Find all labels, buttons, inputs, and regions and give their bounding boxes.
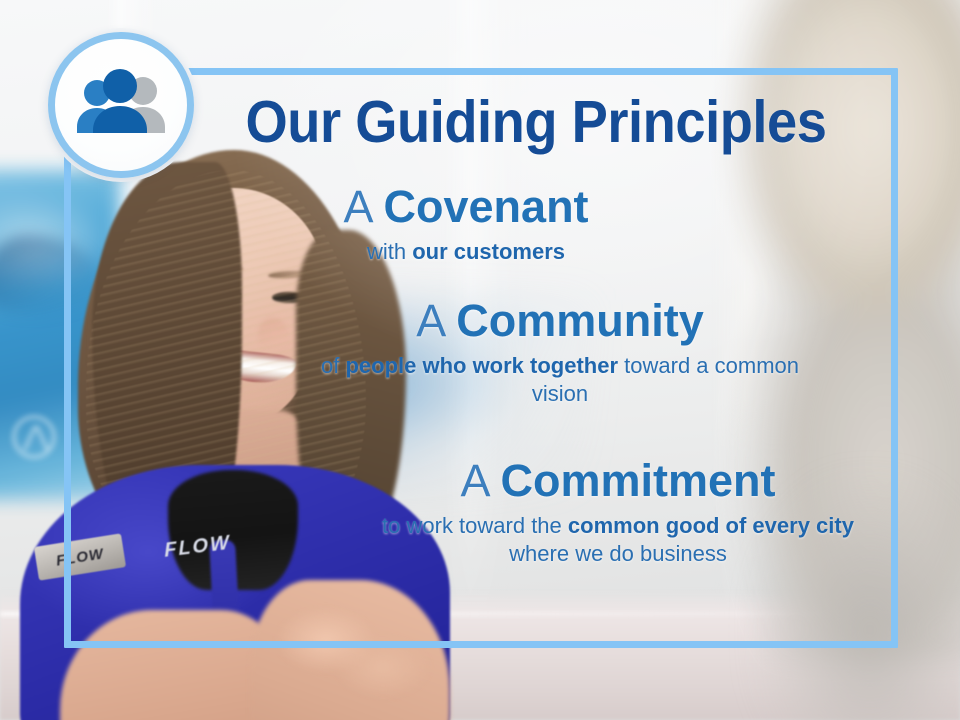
principle-commitment-sub-2: where we do business xyxy=(509,541,727,566)
page-title: Our Guiding Principles xyxy=(242,93,831,152)
principle-community-sub-1: people who work together xyxy=(345,353,618,378)
principle-covenant-title: A Covenant xyxy=(246,183,686,231)
principle-covenant-sub-1: our customers xyxy=(412,239,565,264)
principle-community: A Community of people who work together … xyxy=(300,297,820,409)
principle-covenant: A Covenant with our customers xyxy=(246,183,686,266)
principle-covenant-sub-0: with xyxy=(367,239,412,264)
principle-covenant-subtitle: with our customers xyxy=(246,238,686,267)
people-group-icon xyxy=(69,69,173,141)
principle-community-article: A xyxy=(416,295,444,346)
principle-community-subtitle: of people who work together toward a com… xyxy=(300,352,820,409)
principle-covenant-article: A xyxy=(343,181,371,232)
principle-commitment-title: A Commitment xyxy=(358,457,878,505)
people-group-badge xyxy=(48,32,194,178)
principle-covenant-keyword: Covenant xyxy=(384,181,589,232)
principle-commitment-keyword: Commitment xyxy=(501,455,776,506)
guiding-principles-poster: FLOW FLOW O xyxy=(0,0,960,720)
principle-commitment-subtitle: to work toward the common good of every … xyxy=(358,512,878,569)
principle-community-keyword: Community xyxy=(456,295,704,346)
principle-commitment-sub-1: common good of every city xyxy=(568,513,854,538)
principle-commitment-sub-0: to work toward the xyxy=(382,513,568,538)
principle-community-title: A Community xyxy=(300,297,820,345)
principle-community-sub-0: of xyxy=(321,353,345,378)
principle-commitment-article: A xyxy=(460,455,488,506)
principle-commitment: A Commitment to work toward the common g… xyxy=(358,457,878,569)
